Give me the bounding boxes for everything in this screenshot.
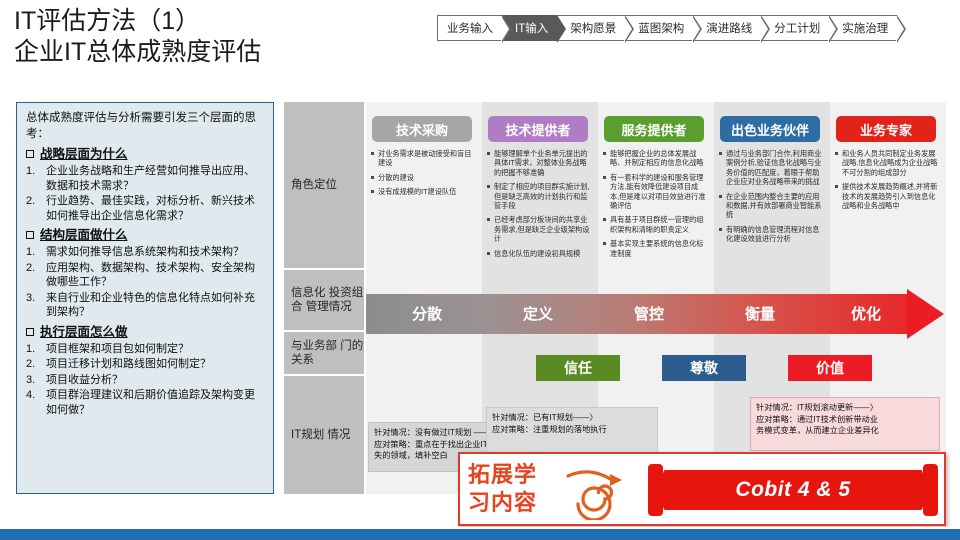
list-number: 1. (26, 245, 41, 260)
row-label-investment: 信息化 投资组合 管理情况 (284, 270, 364, 330)
list-item: 2.行业趋势、最佳实践，对标分析、新兴技术如何推导出企业信息化需求？ (26, 194, 265, 223)
panel-section-heading-1: 结构层面做什么 (26, 227, 265, 244)
title-line-2: 企业IT总体成熟度评估 (14, 37, 261, 68)
list-item: 2.应用架构、数据架构、技术架构、安全架构做哪些工作？ (26, 261, 265, 290)
bullet-square-icon (487, 252, 490, 255)
panel-section-heading-2: 执行层面怎么做 (26, 324, 265, 341)
row-label-it-plan: IT规划 情况 (284, 376, 364, 494)
panel-section-heading-0: 战略层面为什么 (26, 146, 265, 163)
extended-learning-label: 拓展学 习内容 (468, 461, 554, 517)
bullet-square-icon (603, 176, 606, 179)
column-body-3: 通过与业务部门合作,利用商业案例分析,验证信息化战略与业务价值的匹配度，着眼于帮… (719, 149, 823, 249)
extended-learning-label-line2: 习内容 (468, 489, 554, 517)
list-item-label: 项目迁移计划和路线图如何制定？ (46, 357, 265, 372)
bullet-square-icon (487, 152, 490, 155)
extended-learning-label-line1: 拓展学 (468, 461, 554, 489)
relationship-box-trust: 信任 (536, 355, 620, 381)
breadcrumb-label: 蓝图架构 (638, 20, 684, 36)
bullet-label: 能够把握企业的总体发展战略、并制定相应的信息化战略 (610, 149, 707, 168)
bullet-label: 基本实现主要系统的信息化标准制度 (610, 239, 707, 258)
bullet-label: 提供技术发展趋势概述,并将新技术的发展趋势引入到信息化战略和业务战略中 (842, 182, 939, 210)
list-number: 3. (26, 373, 41, 388)
bottom-bar (0, 529, 960, 540)
breadcrumb-item-0[interactable]: 业务输入 (437, 15, 502, 41)
list-item: 4.项目群治理建议和后期价值追踪及架构变更如何做？ (26, 388, 265, 417)
section-heading-label: 执行层面怎么做 (40, 324, 128, 341)
callout-line-1: 针对情况：IT规划滚动更新——〉 (756, 402, 934, 414)
bullet-square-icon (487, 185, 490, 188)
list-item-label: 行业趋势、最佳实践，对标分析、新兴技术如何推导出企业信息化需求？ (46, 194, 265, 223)
list-number: 4. (26, 388, 41, 417)
bullet-label: 和业务人员共同制定业务发展战略,信息化战略成为企业战略不可分割的组成部分 (842, 149, 939, 177)
breadcrumb-label: 分工计划 (774, 20, 820, 36)
column-body-4: 和业务人员共同制定业务发展战略,信息化战略成为企业战略不可分割的组成部分 提供技… (835, 149, 939, 215)
checkbox-square-icon (26, 328, 34, 336)
list-number: 2. (26, 194, 41, 223)
bullet-label: 没有成规模的IT建设队伍 (378, 187, 475, 196)
breadcrumb-label: 架构愿景 (570, 20, 616, 36)
breadcrumb-item-6[interactable]: 实施治理 (829, 15, 897, 41)
bullet-item: 有一套科学的建设和服务管理方法,能有效降低建设项目成本,但是难以对项目效益进行准… (603, 173, 707, 211)
bullet-square-icon (603, 218, 606, 221)
bullet-square-icon (603, 242, 606, 245)
row-label-business-relation: 与业务部 门的关系 (284, 332, 364, 374)
list-item: 3.项目收益分析？ (26, 373, 265, 388)
bullet-square-icon (719, 228, 722, 231)
bullet-square-icon (487, 218, 490, 221)
maturity-matrix: 角色定位 信息化 投资组合 管理情况 与业务部 门的关系 IT规划 情况 技术采… (284, 102, 946, 494)
arrow-stage-0: 分散 (382, 303, 472, 324)
relationship-box-respect: 尊敬 (662, 355, 746, 381)
list-number: 1. (26, 164, 41, 193)
bullet-item: 分散的建设 (371, 173, 475, 182)
bullet-label: 有一套科学的建设和服务管理方法,能有效降低建设项目成本,但是难以对项目效益进行准… (610, 173, 707, 211)
bullet-square-icon (371, 176, 374, 179)
bullet-label: 分散的建设 (378, 173, 475, 182)
title-line-1: IT评估方法（1） (14, 6, 261, 37)
column-header-business-partner[interactable]: 出色业务伙伴 (720, 116, 820, 142)
bullet-label: 能够理解单个业务单元提出的具体IT需求，对整体业务战略的把握不够准确 (494, 149, 591, 177)
bullet-item: 提供技术发展趋势概述,并将新技术的发展趋势引入到信息化战略和业务战略中 (835, 182, 939, 210)
list-item-label: 来自行业和企业特色的信息化特点如何补充到架构？ (46, 291, 265, 320)
bullet-item: 对业务需求是被动接受和盲目建设 (371, 149, 475, 168)
list-item-label: 应用架构、数据架构、技术架构、安全架构做哪些工作？ (46, 261, 265, 290)
breadcrumb-label: 业务输入 (447, 20, 493, 36)
target-spiral-icon (560, 462, 640, 520)
breadcrumb-item-2[interactable]: 架构愿景 (557, 15, 625, 41)
column-body-0: 对业务需求是被动接受和盲目建设 分散的建设 没有成规模的IT建设队伍 (371, 149, 475, 202)
list-item-label: 企业业务战略和生产经营如何推导出应用、数据和技术需求？ (46, 164, 265, 193)
section-heading-label: 结构层面做什么 (40, 227, 128, 244)
bullet-label: 已经考虑部分板块间的共享业务需求,但是缺乏企业级架构设计 (494, 215, 591, 243)
breadcrumb-item-3[interactable]: 蓝图架构 (625, 15, 693, 41)
list-number: 2. (26, 357, 41, 372)
bullet-item: 和业务人员共同制定业务发展战略,信息化战略成为企业战略不可分割的组成部分 (835, 149, 939, 177)
section-heading-label: 战略层面为什么 (40, 146, 128, 163)
arrow-head-icon (907, 289, 944, 339)
list-item-label: 项目框架和项目包如何制定？ (46, 342, 265, 357)
row-label-role: 角色定位 (284, 102, 364, 268)
list-item: 2.项目迁移计划和路线图如何制定？ (26, 357, 265, 372)
callout-line-1: 针对情况：已有IT规划——〉 (492, 412, 652, 424)
list-number: 1. (26, 342, 41, 357)
cobit-ribbon: Cobit 4 & 5 (648, 464, 938, 516)
bullet-square-icon (603, 152, 606, 155)
relationship-box-value: 价值 (788, 355, 872, 381)
list-item: 3.来自行业和企业特色的信息化特点如何补充到架构？ (26, 291, 265, 320)
bullet-item: 信息化队伍的建设初具规模 (487, 249, 591, 258)
panel-intro: 总体成熟度评估与分析需要引发三个层面的思考： (26, 110, 265, 142)
list-item: 1.需求如何推导信息系统架构和技术架构？ (26, 245, 265, 260)
column-body-1: 能够理解单个业务单元提出的具体IT需求，对整体业务战略的把握不够准确 制定了相应… (487, 149, 591, 263)
bullet-item: 没有成规模的IT建设队伍 (371, 187, 475, 196)
bullet-label: 对业务需求是被动接受和盲目建设 (378, 149, 475, 168)
column-header-service-provider[interactable]: 服务提供者 (604, 116, 704, 142)
list-item-label: 项目收益分析？ (46, 373, 265, 388)
bullet-label: 有明确的信息管理流程对信息化建设效益进行分析 (726, 225, 823, 244)
callout-line-2: 应对策略：通过IT技术创新带动业 (756, 414, 934, 426)
bullet-item: 已经考虑部分板块间的共享业务需求,但是缺乏企业级架构设计 (487, 215, 591, 243)
extended-learning-banner[interactable]: 拓展学 习内容 Cobit 4 & 5 (458, 452, 946, 526)
arrow-stage-3: 衡量 (715, 303, 805, 324)
bullet-label: 在企业范围内整合主要的应用和数据,并有效部署商业智能系统 (726, 192, 823, 220)
bullet-square-icon (835, 185, 838, 188)
bullet-label: 具有基于项目群统一管理的组织架构和清晰的职责定义 (610, 215, 707, 234)
list-item-label: 需求如何推导信息系统架构和技术架构？ (46, 245, 265, 260)
breadcrumb-label: 实施治理 (842, 20, 888, 36)
bullet-square-icon (719, 195, 722, 198)
list-item: 1.项目框架和项目包如何制定？ (26, 342, 265, 357)
bullet-item: 有明确的信息管理流程对信息化建设效益进行分析 (719, 225, 823, 244)
bullet-item: 通过与业务部门合作,利用商业案例分析,验证信息化战略与业务价值的匹配度，着眼于帮… (719, 149, 823, 187)
breadcrumb-item-5[interactable]: 分工计划 (761, 15, 829, 41)
arrow-stage-4: 优化 (821, 303, 911, 324)
breadcrumb-item-4[interactable]: 演进路线 (693, 15, 761, 41)
maturity-arrow: 分散 定义 管控 衡量 优化 (366, 294, 944, 334)
page-title: IT评估方法（1） 企业IT总体成熟度评估 (14, 6, 261, 68)
bullet-item: 能够把握企业的总体发展战略、并制定相应的信息化战略 (603, 149, 707, 168)
list-item: 1.企业业务战略和生产经营如何推导出应用、数据和技术需求？ (26, 164, 265, 193)
list-number: 2. (26, 261, 41, 290)
breadcrumb-label: 演进路线 (706, 20, 752, 36)
breadcrumb-label: IT输入 (515, 20, 548, 36)
bullet-square-icon (719, 152, 722, 155)
bullet-label: 通过与业务部门合作,利用商业案例分析,验证信息化战略与业务价值的匹配度，着眼于帮… (726, 149, 823, 187)
bullet-label: 信息化队伍的建设初具规模 (494, 249, 591, 258)
checkbox-square-icon (26, 231, 34, 239)
column-body-2: 能够把握企业的总体发展战略、并制定相应的信息化战略 有一套科学的建设和服务管理方… (603, 149, 707, 263)
bullet-item: 制定了相应的项目群实施计划,但是缺乏高效的计划执行和监管手段 (487, 182, 591, 210)
cobit-ribbon-label: Cobit 4 & 5 (648, 478, 938, 502)
callout-line-2: 应对策略：注重规划的落地执行 (492, 424, 652, 436)
column-header-business-expert[interactable]: 业务专家 (836, 116, 936, 142)
thinking-levels-panel: 总体成熟度评估与分析需要引发三个层面的思考： 战略层面为什么 1.企业业务战略和… (16, 102, 274, 494)
arrow-stage-1: 定义 (493, 303, 583, 324)
bullet-item: 在企业范围内整合主要的应用和数据,并有效部署商业智能系统 (719, 192, 823, 220)
bullet-label: 制定了相应的项目群实施计划,但是缺乏高效的计划执行和监管手段 (494, 182, 591, 210)
bullet-item: 具有基于项目群统一管理的组织架构和清晰的职责定义 (603, 215, 707, 234)
bullet-square-icon (371, 190, 374, 193)
bullet-square-icon (835, 152, 838, 155)
list-item-label: 项目群治理建议和后期价值追踪及架构变更如何做？ (46, 388, 265, 417)
column-header-tech-purchaser[interactable]: 技术采购 (372, 116, 472, 142)
list-number: 3. (26, 291, 41, 320)
arrow-stage-2: 管控 (604, 303, 694, 324)
it-plan-callout-1: 针对情况：已有IT规划——〉 应对策略：注重规划的落地执行 (486, 407, 658, 457)
bullet-square-icon (371, 152, 374, 155)
breadcrumb: 业务输入 IT输入 架构愿景 蓝图架构 演进路线 分工计划 实施治理 (437, 15, 897, 41)
bullet-item: 能够理解单个业务单元提出的具体IT需求，对整体业务战略的把握不够准确 (487, 149, 591, 177)
column-header-tech-provider[interactable]: 技术提供者 (488, 116, 588, 142)
callout-line-3: 务模式变革，从而建立企业差异化 (756, 425, 934, 437)
it-plan-callout-2: 针对情况：IT规划滚动更新——〉 应对策略：通过IT技术创新带动业 务模式变革，… (750, 397, 940, 451)
bullet-item: 基本实现主要系统的信息化标准制度 (603, 239, 707, 258)
checkbox-square-icon (26, 150, 34, 158)
